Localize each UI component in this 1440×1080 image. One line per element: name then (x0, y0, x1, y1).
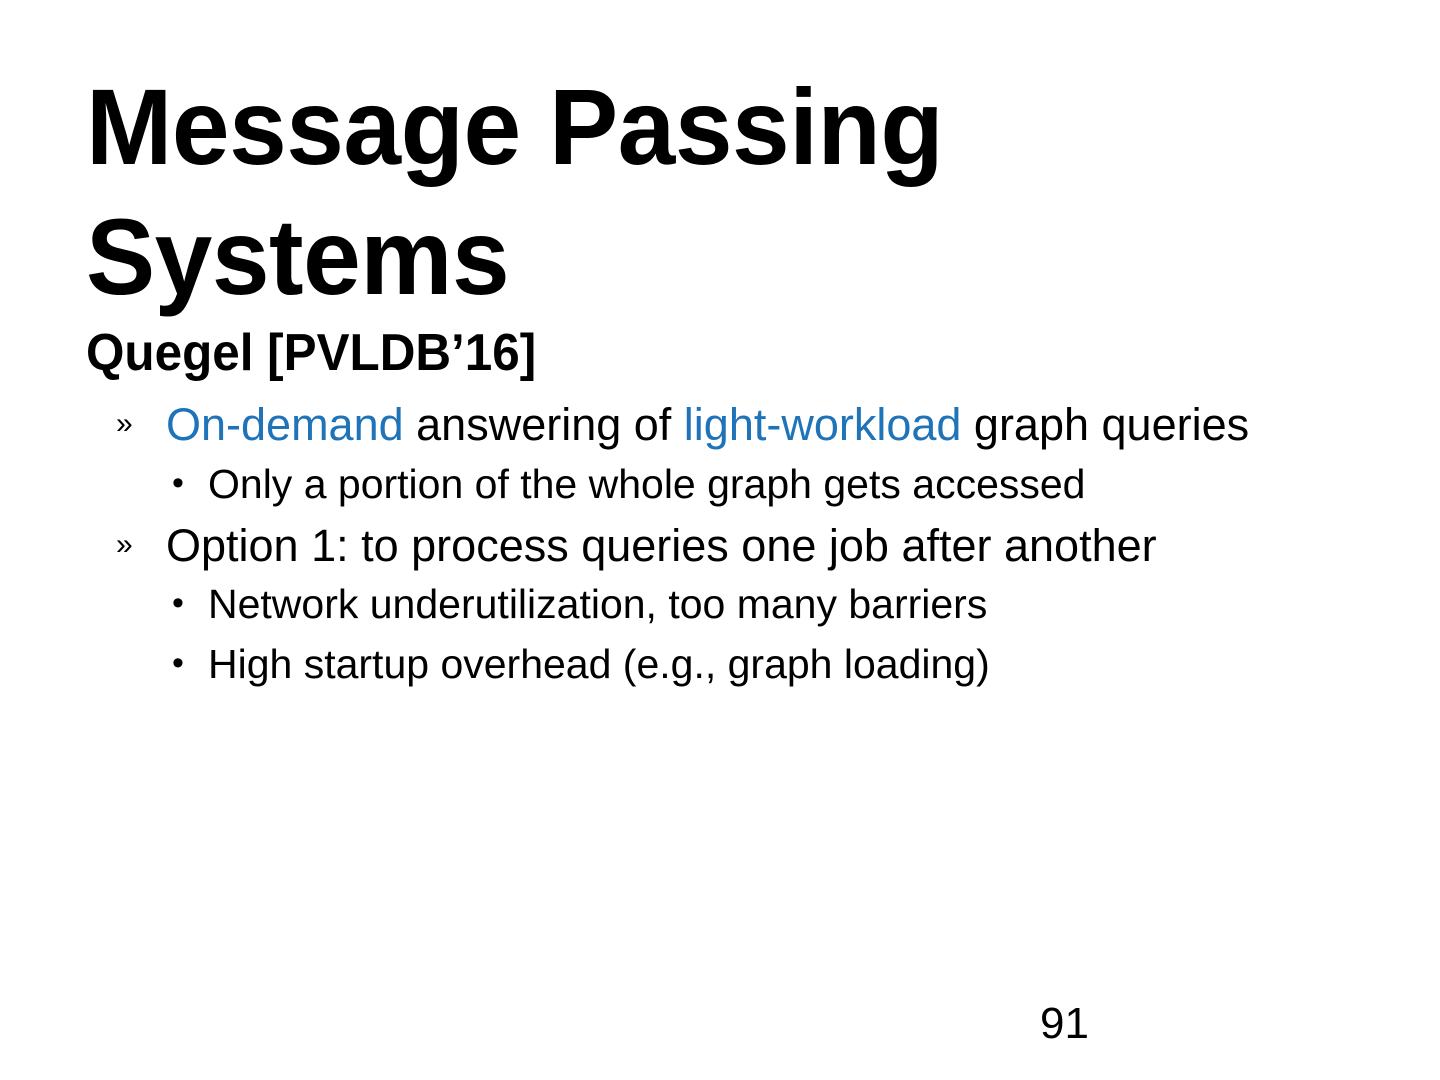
bullet-marker-level1: » (116, 519, 133, 571)
highlight-light-workload: light-workload (684, 399, 962, 450)
list-item-text: Option 1: to process queries one job aft… (166, 520, 1157, 571)
title-block: Message PassingSystems Quegel [PVLDB’16] (86, 62, 1386, 381)
bullet-marker-level2: • (172, 457, 184, 511)
list-item: » On-demand answering of light-workload … (88, 396, 1408, 455)
list-item: • Network underutilization, too many bar… (88, 577, 1408, 631)
bullet-marker-level2: • (172, 637, 184, 691)
slide-canvas: Message PassingSystems Quegel [PVLDB’16]… (0, 0, 1440, 1080)
list-item-text: High startup overhead (e.g., graph loadi… (208, 641, 990, 687)
list-item-text-part: graph queries (961, 399, 1249, 450)
title-line-1: Message Passing (86, 66, 943, 187)
page-number: 91 (1040, 1002, 1089, 1046)
list-item-text: Network underutilization, too many barri… (208, 581, 987, 627)
slide-subtitle: Quegel [PVLDB’16] (86, 325, 1321, 381)
list-item: » Option 1: to process queries one job a… (88, 517, 1408, 576)
bullet-marker-level1: » (116, 398, 133, 450)
list-item-text: On-demand answering of light-workload gr… (166, 399, 1249, 450)
bullet-marker-level2: • (172, 577, 184, 631)
list-item: • Only a portion of the whole graph gets… (88, 457, 1408, 511)
list-item-text: Only a portion of the whole graph gets a… (208, 461, 1085, 507)
list-item-text-part: answering of (404, 399, 684, 450)
title-line-2: Systems (86, 196, 509, 317)
bullet-list: » On-demand answering of light-workload … (88, 396, 1408, 697)
page-title: Message PassingSystems (86, 62, 1334, 321)
list-item: • High startup overhead (e.g., graph loa… (88, 637, 1408, 691)
highlight-on-demand: On-demand (166, 399, 404, 450)
